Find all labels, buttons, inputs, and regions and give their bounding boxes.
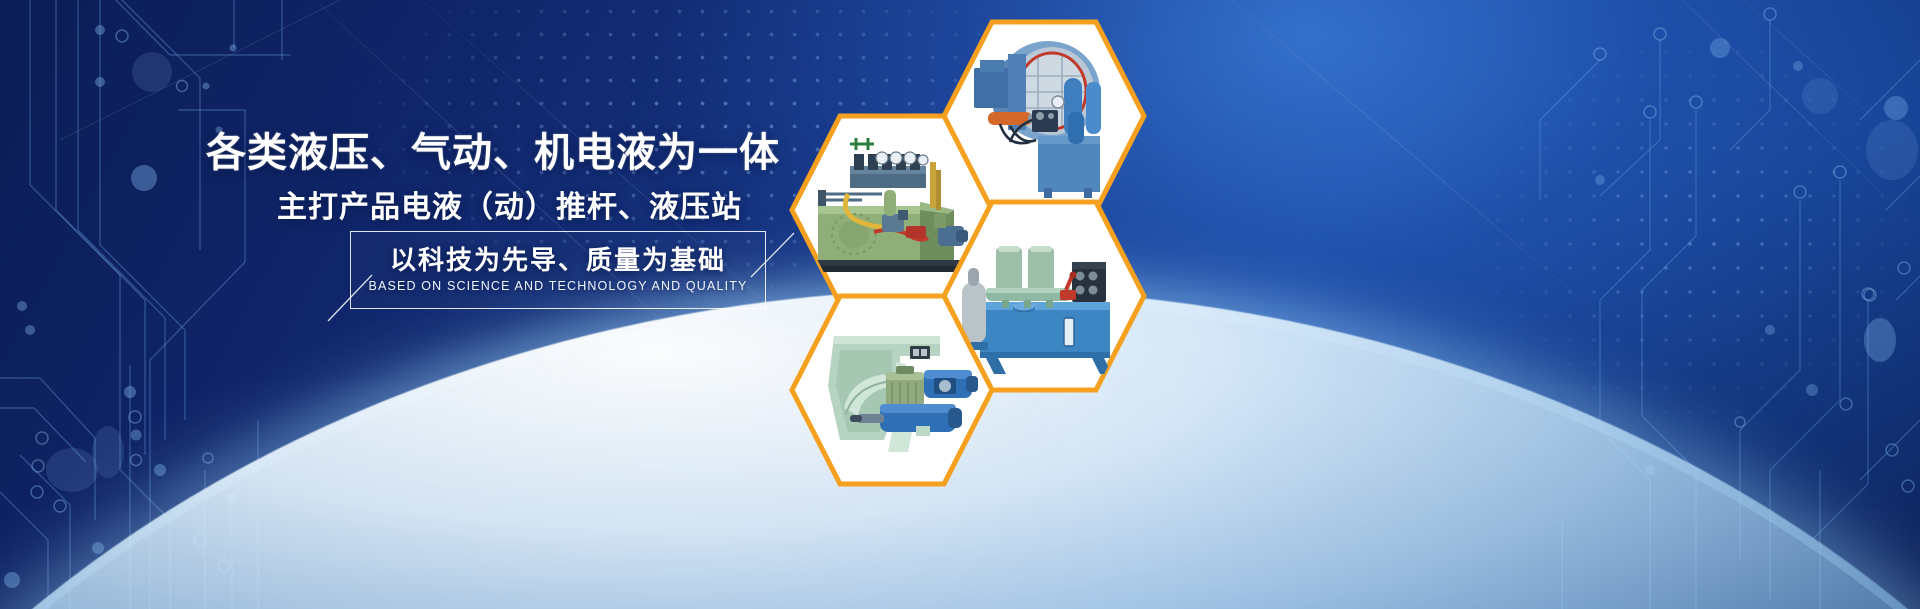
banner-headline: 各类液压、气动、机电液为一体 [0,130,780,177]
slogan-block: 以科技为先导、质量为基础 BASED ON SCIENCE AND TECHNO… [326,231,766,317]
banner-subheadline: 主打产品电液（动）推杆、液压站 [0,182,742,226]
hex-electro-hydraulic-pusher[interactable] [788,290,996,490]
slogan-chinese: 以科技为先导、质量为基础 [350,240,766,277]
hero-banner: 各类液压、气动、机电液为一体 主打产品电液（动）推杆、液压站 以科技为先导、质量… [0,0,1920,609]
banner-copy: 各类液压、气动、机电液为一体 主打产品电液（动）推杆、液压站 以科技为先导、质量… [0,0,820,609]
product-hexagon-cluster [760,0,1180,609]
slogan-english: BASED ON SCIENCE AND TECHNOLOGY AND QUAL… [350,279,766,293]
